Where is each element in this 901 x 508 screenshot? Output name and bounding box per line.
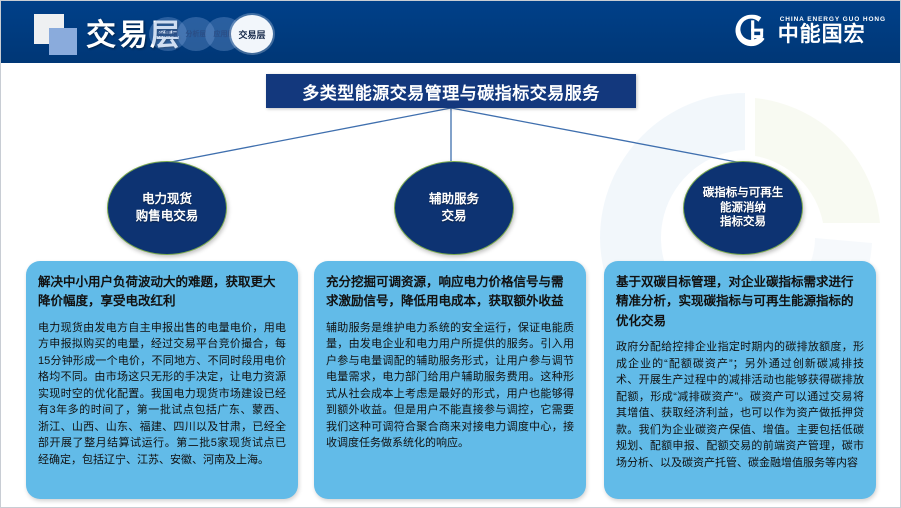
stage-label: 分析层: [186, 29, 207, 39]
company-logo: CHINA ENERGY GUO HONG 中能国宏: [734, 12, 886, 49]
info-box-heading: 基于双碳目标管理，对企业碳指标需求进行精准分析，实现碳指标与可再生能源指标的优化…: [616, 273, 864, 331]
node-label: 电力现货购售电交易: [134, 191, 201, 225]
info-box-spot-power: 解决中小用户负荷波动大的难题，获取更大降价幅度，享受电改红利 电力现货由发电方自…: [26, 261, 298, 499]
circle-g-logo-icon: [734, 12, 771, 49]
info-box-body: 辅助服务是维护电力系统的安全运行，保证电能质量，由发电企业和电力用户所提供的服务…: [326, 320, 574, 452]
node-label: 碳指标与可再生能源消纳指标交易: [701, 186, 786, 231]
logo-english-name: CHINA ENERGY GUO HONG: [780, 16, 886, 23]
node-carbon-renewable-index-trading[interactable]: 碳指标与可再生能源消纳指标交易: [683, 161, 803, 255]
page-header: 交易层 采集层 分析层 应用层 交易层 C: [1, 1, 901, 63]
info-box-ancillary-service: 充分挖掘可调资源，响应电力价格信号与需求激励信号，降低用电成本，获取额外收益 辅…: [314, 261, 586, 499]
stage-label: 交易层: [238, 28, 265, 41]
info-box-body: 电力现货由发电方自主申报出售的电量电价，用电方申报拟购买的电量，经过交易平台竞价…: [38, 320, 286, 469]
node-spot-power-trading[interactable]: 电力现货购售电交易: [107, 161, 227, 255]
stage-item-trading-active[interactable]: 交易层: [231, 15, 273, 53]
slide-canvas: 多类型能源交易管理与碳指标交易服务 电力现货购售电交易 辅助服务交易 碳指标与可…: [1, 63, 900, 507]
diagram-banner: 多类型能源交易管理与碳指标交易服务: [266, 74, 636, 108]
header-square-blue-icon: [49, 28, 77, 55]
diagram-banner-label: 多类型能源交易管理与碳指标交易服务: [302, 79, 600, 104]
info-box-heading: 解决中小用户负荷波动大的难题，获取更大降价幅度，享受电改红利: [38, 273, 286, 312]
logo-chinese-name: 中能国宏: [778, 24, 886, 45]
stage-selector: 采集层 分析层 应用层 交易层: [149, 17, 289, 51]
info-box-heading: 充分挖掘可调资源，响应电力价格信号与需求激励信号，降低用电成本，获取额外收益: [326, 273, 574, 312]
logo-text-block: CHINA ENERGY GUO HONG 中能国宏: [778, 16, 886, 45]
slide-root: 交易层 采集层 分析层 应用层 交易层 C: [0, 0, 901, 508]
node-ancillary-service-trading[interactable]: 辅助服务交易: [394, 161, 514, 255]
info-box-carbon-index: 基于双碳目标管理，对企业碳指标需求进行精准分析，实现碳指标与可再生能源指标的优化…: [604, 261, 876, 499]
stage-label: 采集层: [158, 29, 179, 39]
info-box-body: 政府分配给控排企业指定时期内的碳排放额度，形成企业的“配额碳资产”；另外通过创新…: [616, 339, 864, 471]
node-label: 辅助服务交易: [427, 191, 481, 225]
